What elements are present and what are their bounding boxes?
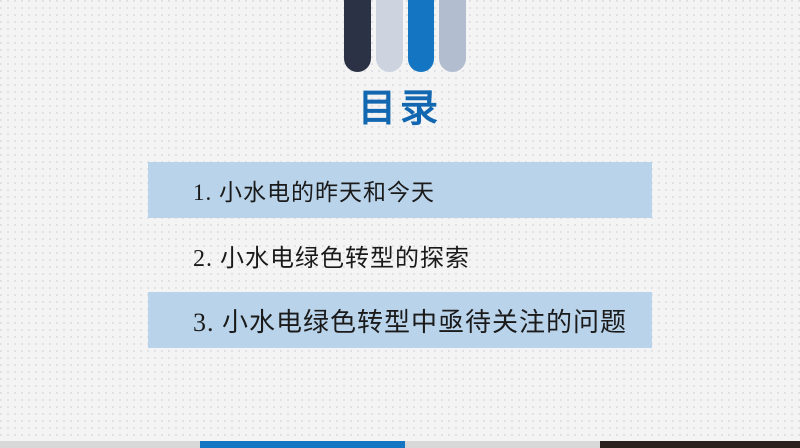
table-of-contents: 1. 小水电的昨天和今天 2. 小水电绿色转型的探索 3. 小水电绿色转型中亟待… [148,162,652,348]
bar-gray-blue-icon [439,0,466,72]
toc-item-1[interactable]: 1. 小水电的昨天和今天 [148,162,652,218]
toc-item-2-label: 2. 小水电绿色转型的探索 [148,238,470,273]
toc-item-1-label: 1. 小水电的昨天和今天 [148,173,435,207]
bar-navy-icon [344,0,371,72]
progress-segment-dark [600,441,800,448]
decorative-bar-group [344,0,466,72]
toc-item-3-label: 3. 小水电绿色转型中亟待关注的问题 [148,302,627,339]
progress-segment-blue [200,441,405,448]
toc-item-2[interactable]: 2. 小水电绿色转型的探索 [148,227,652,283]
toc-item-3[interactable]: 3. 小水电绿色转型中亟待关注的问题 [148,292,652,348]
bar-blue-icon [408,0,435,72]
footer-bar [0,441,800,448]
page-title: 目录 [0,86,800,132]
slide-canvas: 目录 1. 小水电的昨天和今天 2. 小水电绿色转型的探索 3. 小水电绿色转型… [0,0,800,448]
bar-light-gray-icon [376,0,403,72]
